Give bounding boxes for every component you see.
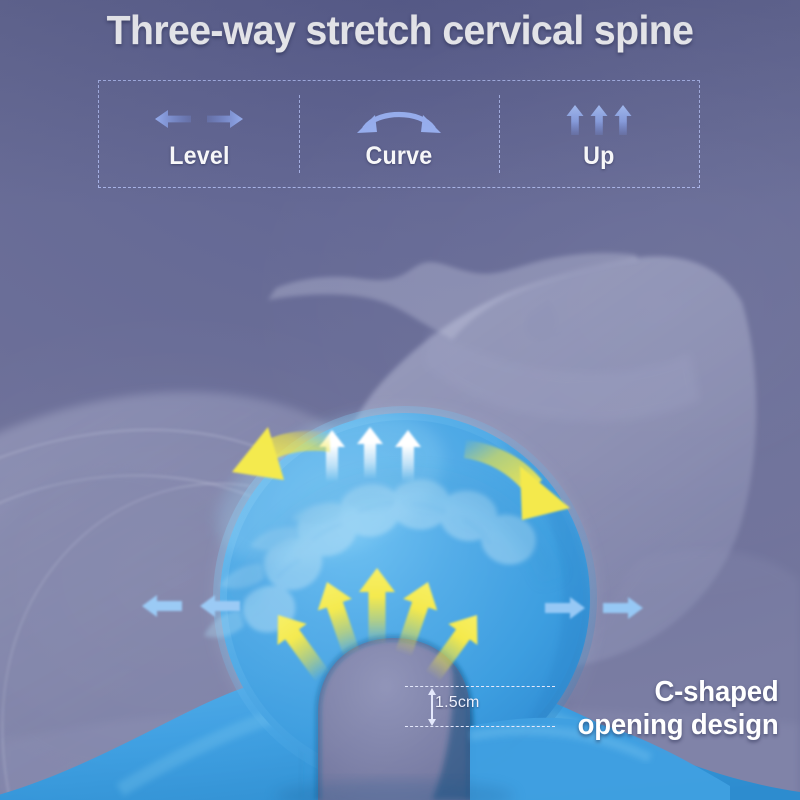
triple-up-arrow-icon: [553, 102, 645, 136]
measure-line-top: [405, 686, 555, 687]
measure-value: 1.5cm: [435, 694, 480, 712]
curved-double-arrow-icon: [351, 102, 447, 136]
feature-up[interactable]: Up: [499, 81, 699, 187]
page-title: Three-way stretch cervical spine: [18, 9, 782, 52]
feature-label: Level: [169, 142, 229, 171]
double-horizontal-arrow-icon: [151, 102, 247, 136]
feature-row: Level Curve: [98, 80, 700, 188]
c-shaped-caption: C-shaped opening design: [577, 676, 778, 742]
caption-line-1: C-shaped: [577, 676, 778, 709]
feature-level[interactable]: Level: [99, 81, 299, 187]
measure-line-bottom: [405, 726, 555, 727]
measurement-callout: 1.5cm: [405, 686, 555, 738]
caption-line-2: opening design: [577, 709, 778, 742]
feature-label: Up: [583, 142, 614, 171]
feature-label: Curve: [366, 142, 433, 171]
feature-curve[interactable]: Curve: [299, 81, 499, 187]
product-infographic: Three-way stretch cervical spine: [0, 0, 800, 800]
header: Three-way stretch cervical spine: [0, 0, 800, 52]
